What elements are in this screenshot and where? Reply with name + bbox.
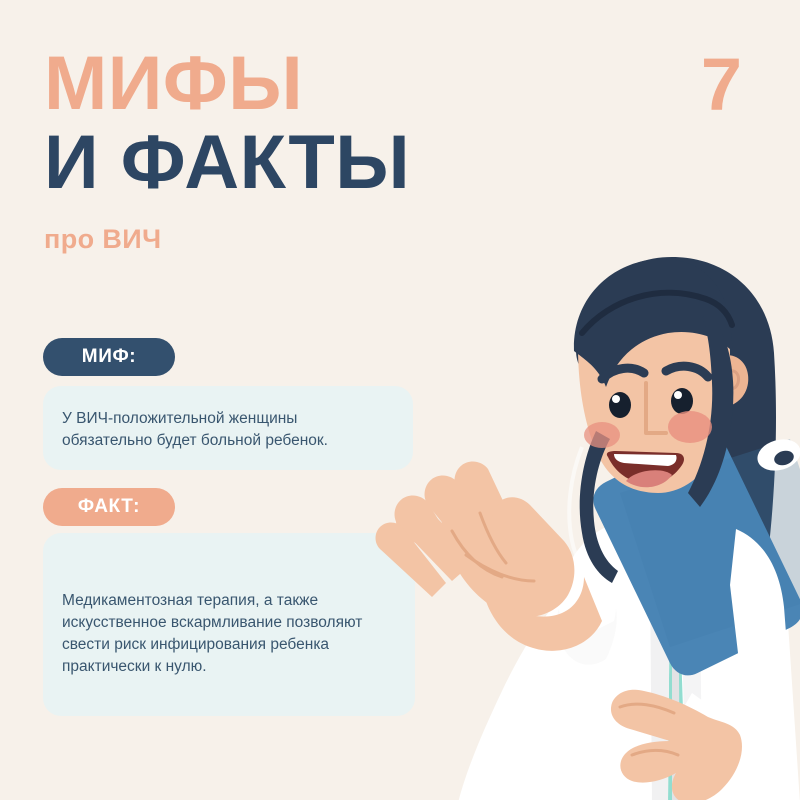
hair-side-right <box>688 313 733 507</box>
blush-right <box>668 411 712 443</box>
page-title-line-2: И ФАКТЫ <box>44 127 564 200</box>
eyebrow-left <box>602 368 644 379</box>
eye-left-glint <box>612 395 620 403</box>
eyebrow-right <box>666 366 708 377</box>
myth-text: У ВИЧ-положительной женщины обязательно … <box>62 408 392 452</box>
blush-left <box>584 422 620 448</box>
coat-left-panel <box>538 523 670 800</box>
coat-cuff-right <box>670 693 766 764</box>
coat-sleeve-left-fold <box>557 582 617 665</box>
ear-detail <box>726 371 739 389</box>
scrubs-collar <box>622 529 716 572</box>
wrist <box>484 577 602 651</box>
holding-hand <box>611 690 742 800</box>
palm-crease-2 <box>452 531 502 577</box>
finger-middle <box>425 476 496 567</box>
issue-number: 7 <box>701 48 742 122</box>
hair-strand-highlight <box>569 447 598 583</box>
tongue <box>626 470 672 487</box>
neck <box>632 455 702 543</box>
face <box>569 259 748 583</box>
hair-front <box>574 259 732 387</box>
head <box>578 263 730 493</box>
finger-index <box>455 462 522 555</box>
page-title-line-1: МИФЫ <box>44 48 564 121</box>
coat-cuff-left <box>558 578 616 639</box>
eye-left <box>609 392 631 418</box>
eye-right <box>671 388 693 414</box>
poster-canvas: МИФЫ И ФАКТЫ про ВИЧ 7 МИФ: У ВИЧ-положи… <box>0 0 800 800</box>
hair-strand-left <box>580 431 618 583</box>
thumb <box>493 500 546 565</box>
coat-sleeve-right <box>726 529 790 753</box>
clipboard-clip-center <box>772 449 795 468</box>
ear <box>712 355 748 407</box>
coat-right-panel <box>678 525 800 800</box>
coat-sleeve-left <box>458 582 617 800</box>
fact-badge: ФАКТ: <box>43 488 175 526</box>
coat-lapel-right <box>680 525 732 800</box>
palm-crease-1 <box>466 555 534 581</box>
teeth <box>614 454 677 466</box>
eye-right-glint <box>674 391 682 399</box>
coat-lapel-left <box>618 523 670 800</box>
coat-center-seam <box>672 555 680 800</box>
headband <box>582 293 732 333</box>
palm-crease-3 <box>480 513 506 563</box>
fact-text: Медикаментозная терапия, а также искусст… <box>62 590 402 678</box>
clipboard <box>586 424 800 685</box>
doctor-illustration <box>370 255 800 800</box>
title-block: МИФЫ И ФАКТЫ про ВИЧ <box>44 48 564 255</box>
nose <box>646 383 666 433</box>
clipboard-clip <box>754 435 800 476</box>
page-subtitle: про ВИЧ <box>44 224 564 255</box>
scrubs-top <box>586 523 782 800</box>
hair-back <box>576 257 776 685</box>
myth-badge: МИФ: <box>43 338 175 376</box>
neck-shadow <box>632 455 702 498</box>
mouth <box>607 451 684 484</box>
